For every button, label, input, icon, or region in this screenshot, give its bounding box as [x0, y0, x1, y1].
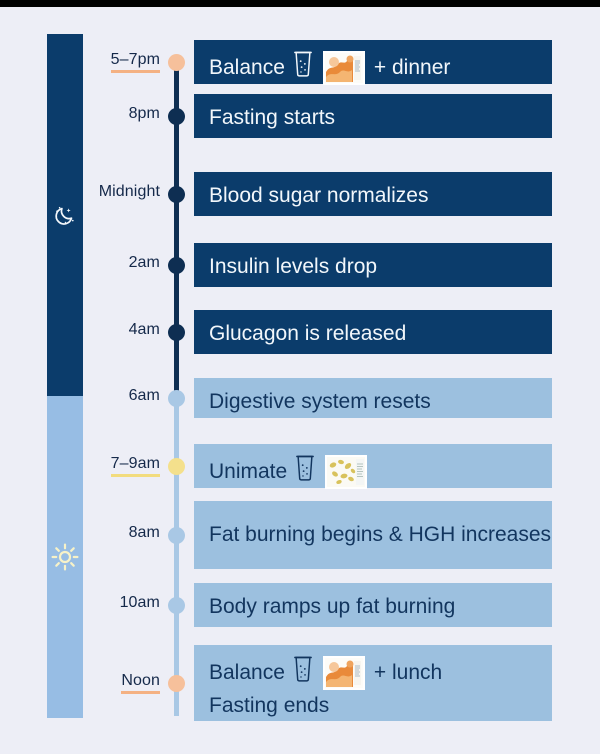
- balance-product-packet: [323, 656, 365, 690]
- card-line: Balance: [209, 654, 552, 691]
- time-label-text: 5–7pm: [111, 51, 160, 73]
- timeline-row: 10amBody ramps up fat burning: [0, 583, 600, 627]
- time-label-text: Noon: [121, 672, 160, 694]
- timeline-dot: [168, 324, 185, 341]
- timeline-card[interactable]: Balance: [194, 645, 552, 721]
- timeline-dot: [168, 527, 185, 544]
- card-line: Fasting ends: [209, 691, 552, 721]
- timeline-row: 8pmFasting starts: [0, 94, 600, 138]
- timeline-card[interactable]: Digestive system resets: [194, 378, 552, 418]
- water-glass-icon: [292, 49, 314, 86]
- timeline-row: 2amInsulin levels drop: [0, 243, 600, 287]
- card-text: Digestive system resets: [209, 387, 431, 417]
- moon-stars-icon: [50, 200, 80, 230]
- rail-night-segment: [47, 34, 83, 396]
- timeline-row: 8amFat burning begins & HGH increases: [0, 501, 600, 569]
- infographic-canvas: 5–7pmBalance: [0, 0, 600, 754]
- card-text: Fasting starts: [209, 103, 335, 133]
- card-line: Digestive system resets: [209, 387, 552, 417]
- timeline-spine-day: [174, 395, 179, 716]
- card-text: Body ramps up fat burning: [209, 592, 455, 622]
- water-glass-icon: [292, 654, 314, 691]
- card-text: Fat burning begins & HGH increases: [209, 523, 551, 546]
- time-label-text: Midnight: [99, 183, 160, 202]
- timeline-dot: [168, 597, 185, 614]
- card-text: + lunch: [374, 658, 442, 688]
- timeline-card[interactable]: Balance: [194, 40, 552, 84]
- card-text: Fasting ends: [209, 691, 329, 721]
- time-label-text: 6am: [129, 387, 160, 406]
- timeline-spine-night: [174, 55, 179, 395]
- time-label-text: 4am: [129, 321, 160, 340]
- timeline-row: 7–9amUnimate: [0, 444, 600, 488]
- timeline-row: MidnightBlood sugar normalizes: [0, 172, 600, 216]
- timeline-dot: [168, 675, 185, 692]
- timeline-card[interactable]: Body ramps up fat burning: [194, 583, 552, 627]
- time-label-text: 7–9am: [111, 455, 160, 477]
- card-line: Balance: [209, 49, 552, 86]
- time-label-text: 2am: [129, 254, 160, 273]
- water-glass-icon: [294, 453, 316, 490]
- timeline-dot: [168, 54, 185, 71]
- card-line: Fat burning begins & HGH increases: [209, 520, 552, 550]
- card-text: Unimate: [209, 457, 287, 487]
- card-text: Balance: [209, 53, 285, 83]
- card-text: Glucagon is released: [209, 319, 406, 349]
- time-label-text: 8am: [129, 524, 160, 543]
- timeline-dot: [168, 257, 185, 274]
- timeline-dot: [168, 458, 185, 475]
- timeline-dot: [168, 390, 185, 407]
- timeline-row: 6amDigestive system resets: [0, 378, 600, 418]
- unimate-product-packet: [325, 455, 367, 489]
- card-line: Unimate: [209, 453, 552, 490]
- card-text: Balance: [209, 658, 285, 688]
- timeline-row: 4amGlucagon is released: [0, 310, 600, 354]
- timeline-dot: [168, 108, 185, 125]
- timeline-card[interactable]: Glucagon is released: [194, 310, 552, 354]
- day-night-rail: [47, 34, 83, 718]
- timeline-row: NoonBalance: [0, 645, 600, 721]
- card-line: Body ramps up fat burning: [209, 592, 552, 622]
- card-text: + dinner: [374, 53, 450, 83]
- letterbox-top-bar: [0, 0, 600, 7]
- sun-icon: [50, 542, 80, 572]
- timeline-card[interactable]: Unimate: [194, 444, 552, 488]
- card-text: Blood sugar normalizes: [209, 181, 428, 211]
- card-line: Fasting starts: [209, 103, 552, 133]
- balance-product-packet: [323, 51, 365, 85]
- timeline-card[interactable]: Fat burning begins & HGH increases: [194, 501, 552, 569]
- timeline-row: 5–7pmBalance: [0, 40, 600, 84]
- card-line: Insulin levels drop: [209, 252, 552, 282]
- timeline-dot: [168, 186, 185, 203]
- timeline-card[interactable]: Insulin levels drop: [194, 243, 552, 287]
- time-label-text: 10am: [120, 594, 160, 613]
- rail-day-segment: [47, 396, 83, 718]
- card-text: Insulin levels drop: [209, 252, 377, 282]
- timeline-card[interactable]: Fasting starts: [194, 94, 552, 138]
- card-line: Glucagon is released: [209, 319, 552, 349]
- card-line: Blood sugar normalizes: [209, 181, 552, 211]
- timeline-card[interactable]: Blood sugar normalizes: [194, 172, 552, 216]
- time-label-text: 8pm: [129, 105, 160, 124]
